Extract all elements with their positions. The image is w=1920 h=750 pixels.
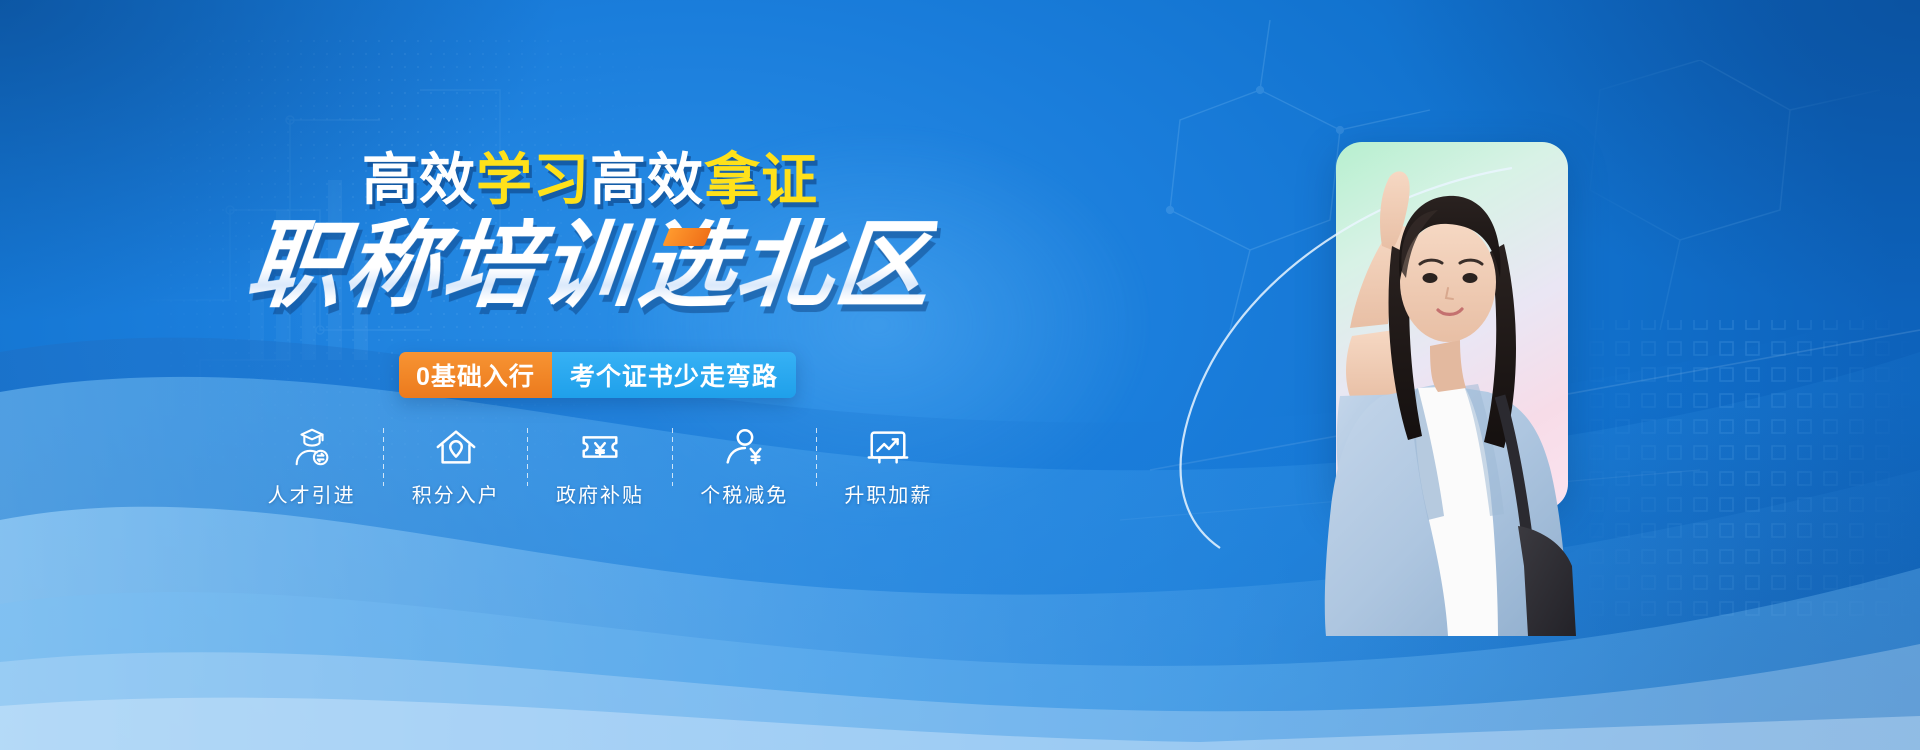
tagline-pill: 0基础入行 考个证书少走弯路 — [399, 352, 796, 398]
graduate-person-icon — [289, 424, 335, 470]
headline-seg-1: 高效 — [362, 148, 476, 211]
feature-label-promotion: 升职加薪 — [844, 479, 932, 508]
headline-seg-2-highlight: 学习 — [476, 148, 590, 211]
promo-banner: 高效学习高效拿证 职称培训选北区 0基础入行 考个证书少走弯路 人才 — [0, 0, 1920, 750]
feature-list: 人才引进 积分入户 政府补贴 — [240, 424, 960, 508]
copy-block: 高效学习高效拿证 职称培训选北区 0基础入行 考个证书少走弯路 人才 — [0, 0, 1180, 750]
feature-label-talent: 人才引进 — [268, 479, 356, 508]
growth-chart-icon — [865, 424, 911, 470]
feature-item-subsidy[interactable]: 政府补贴 — [528, 424, 671, 508]
headline-line-2: 职称培训选北区 — [0, 218, 1180, 314]
feature-label-residency: 积分入户 — [412, 479, 500, 508]
headline-main-text: 职称培训选北区 — [242, 218, 938, 314]
headline-line-1: 高效学习高效拿证 — [0, 152, 1180, 208]
feature-item-tax[interactable]: 个税减免 — [673, 424, 816, 508]
house-pin-icon — [433, 424, 479, 470]
woman-pointing-up-photo — [1232, 96, 1652, 636]
feature-item-talent[interactable]: 人才引进 — [240, 424, 383, 508]
feature-item-residency[interactable]: 积分入户 — [384, 424, 527, 508]
headline-seg-4-highlight: 拿证 — [704, 148, 818, 211]
feature-label-tax: 个税减免 — [700, 479, 788, 508]
person-yuan-icon — [721, 424, 767, 470]
feature-item-promotion[interactable]: 升职加薪 — [817, 424, 960, 508]
feature-label-subsidy: 政府补贴 — [556, 479, 644, 508]
voucher-yuan-icon — [577, 424, 623, 470]
pill-right-label: 考个证书少走弯路 — [552, 352, 796, 398]
orange-accent-dash-icon — [662, 228, 711, 246]
pill-left-label: 0基础入行 — [399, 352, 552, 398]
headline-seg-3: 高效 — [590, 148, 704, 211]
